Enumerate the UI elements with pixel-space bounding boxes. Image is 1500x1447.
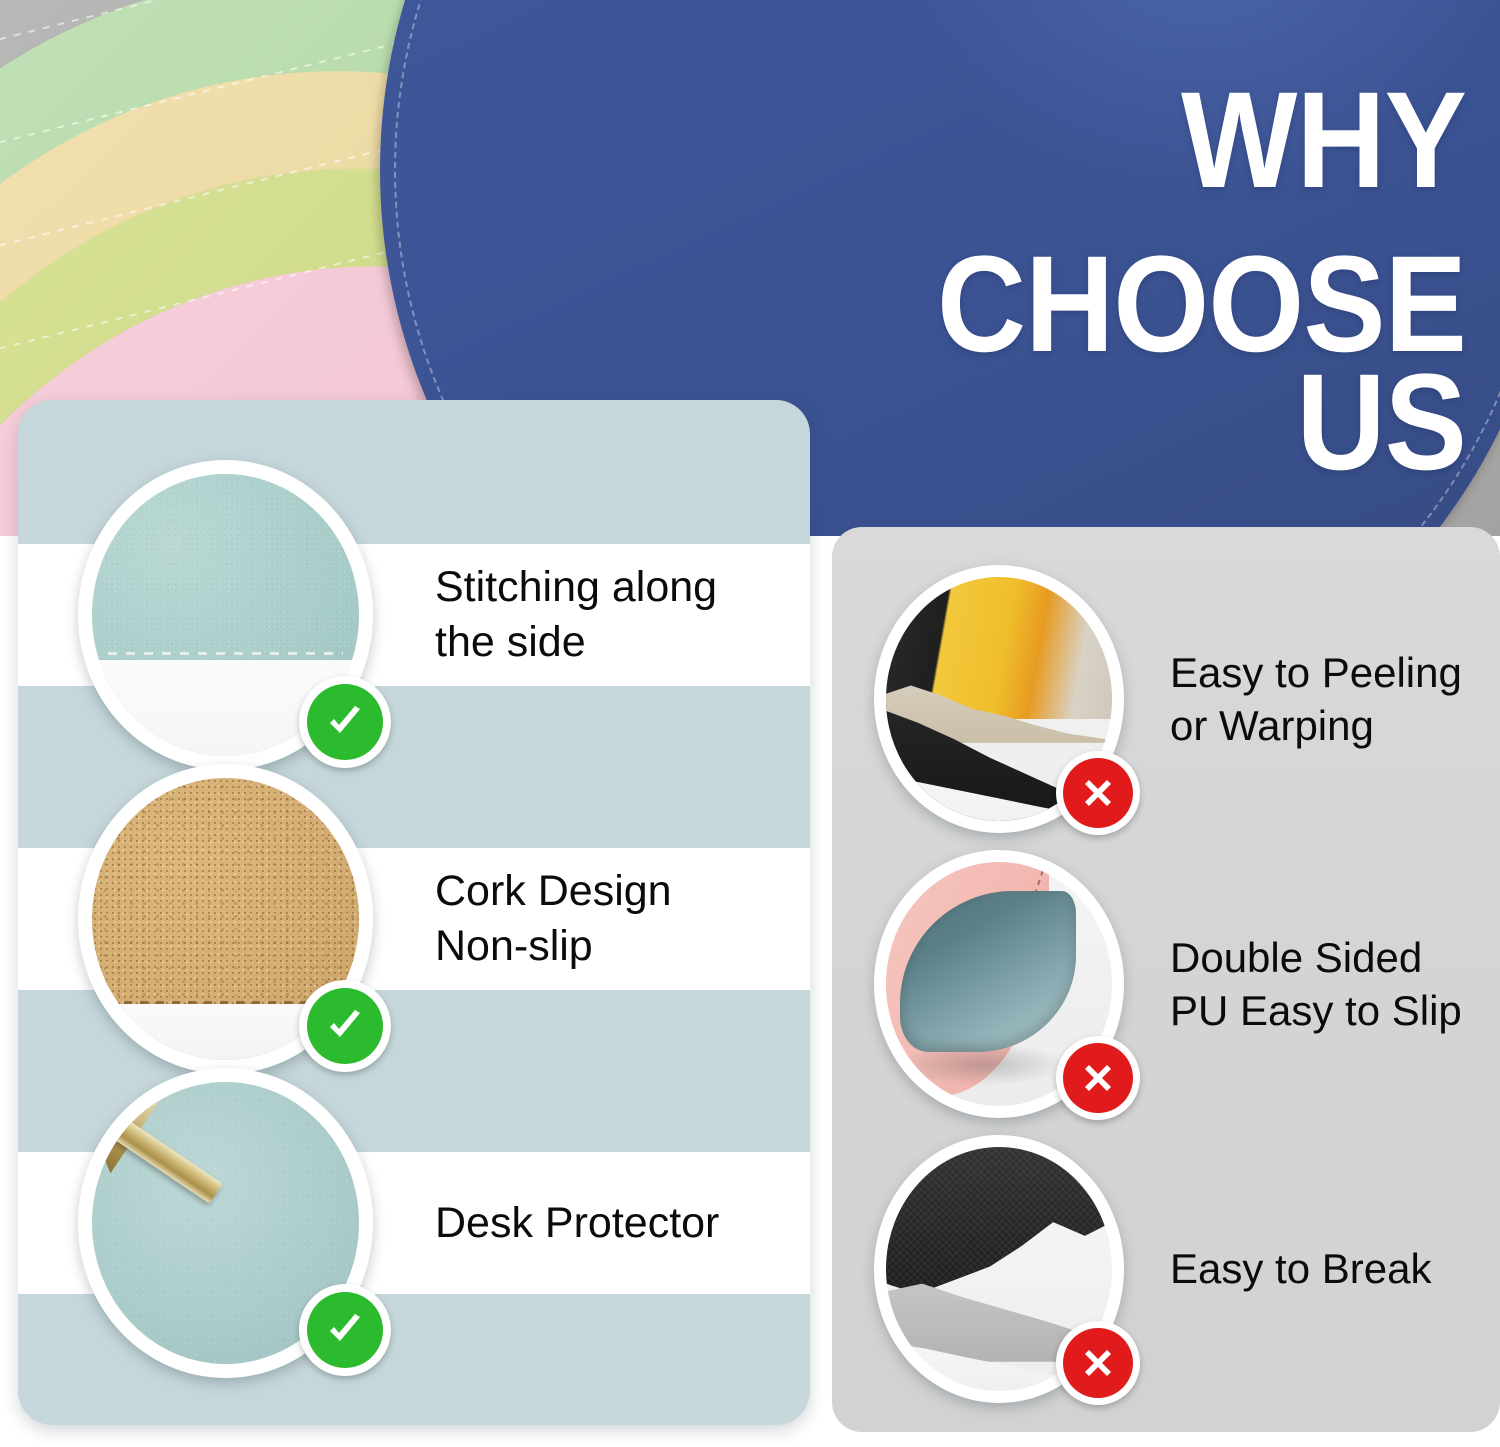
cross-icon bbox=[1077, 1342, 1119, 1384]
cross-badge-circle-2 bbox=[1063, 1043, 1133, 1113]
check-badge-circle-1 bbox=[307, 684, 383, 760]
pros-caption-2-line-2: Non-slip bbox=[435, 919, 672, 974]
pros-panel: Stitching along the side bbox=[18, 400, 810, 1425]
pros-item-1: Stitching along the side bbox=[78, 460, 717, 770]
pros-thumb-cork bbox=[78, 764, 373, 1074]
check-icon bbox=[321, 1306, 369, 1354]
check-badge-circle-3 bbox=[307, 1292, 383, 1368]
cross-badge-1 bbox=[1056, 751, 1140, 835]
pros-caption-1-line-2: the side bbox=[435, 615, 717, 670]
cons-panel: Easy to Peeling or Warping bbox=[832, 527, 1500, 1432]
cross-badge-circle-1 bbox=[1063, 758, 1133, 828]
pros-thumb-stitching bbox=[78, 460, 373, 770]
cons-item-1: Easy to Peeling or Warping bbox=[874, 565, 1462, 833]
cross-icon bbox=[1077, 772, 1119, 814]
title-line-2: CHOOSE US bbox=[890, 246, 1466, 482]
infographic-root: WHY CHOOSE US bbox=[0, 0, 1500, 1447]
cross-icon bbox=[1077, 1057, 1119, 1099]
cross-badge-3 bbox=[1056, 1321, 1140, 1405]
cons-caption-2-line-1: Double Sided bbox=[1170, 931, 1462, 984]
check-icon bbox=[321, 698, 369, 746]
cons-thumb-peeling bbox=[874, 565, 1124, 833]
cons-item-3: Easy to Break bbox=[874, 1135, 1431, 1403]
pros-thumb-desk-protector bbox=[78, 1068, 373, 1378]
cons-caption-3: Easy to Break bbox=[1170, 1242, 1431, 1295]
pros-caption-3-line-1: Desk Protector bbox=[435, 1196, 719, 1251]
pu-shadow bbox=[895, 1043, 1067, 1087]
cons-caption-1: Easy to Peeling or Warping bbox=[1170, 646, 1462, 753]
page-title: WHY CHOOSE US bbox=[890, 82, 1466, 481]
pros-caption-2-line-1: Cork Design bbox=[435, 864, 672, 919]
check-badge-2 bbox=[299, 980, 391, 1072]
cons-caption-2-line-2: PU Easy to Slip bbox=[1170, 984, 1462, 1037]
pros-caption-1: Stitching along the side bbox=[435, 560, 717, 669]
stitching-detail bbox=[108, 652, 343, 655]
pros-caption-1-line-1: Stitching along bbox=[435, 560, 717, 615]
check-badge-1 bbox=[299, 676, 391, 768]
cons-caption-3-line-1: Easy to Break bbox=[1170, 1242, 1431, 1295]
cons-thumb-break bbox=[874, 1135, 1124, 1403]
pros-item-2: Cork Design Non-slip bbox=[78, 764, 672, 1074]
check-badge-3 bbox=[299, 1284, 391, 1376]
pros-caption-2: Cork Design Non-slip bbox=[435, 864, 672, 973]
check-icon bbox=[321, 1002, 369, 1050]
pros-item-3: Desk Protector bbox=[78, 1068, 719, 1378]
cons-caption-1-line-2: or Warping bbox=[1170, 699, 1462, 752]
cons-item-2: Double Sided PU Easy to Slip bbox=[874, 850, 1462, 1118]
cons-caption-1-line-1: Easy to Peeling bbox=[1170, 646, 1462, 699]
title-line-1: WHY bbox=[890, 82, 1466, 200]
cross-badge-circle-3 bbox=[1063, 1328, 1133, 1398]
pen-barrel bbox=[108, 1115, 223, 1204]
pros-caption-3: Desk Protector bbox=[435, 1196, 719, 1251]
cons-caption-2: Double Sided PU Easy to Slip bbox=[1170, 931, 1462, 1038]
check-badge-circle-2 bbox=[307, 988, 383, 1064]
cross-badge-2 bbox=[1056, 1036, 1140, 1120]
cons-thumb-double-sided bbox=[874, 850, 1124, 1118]
